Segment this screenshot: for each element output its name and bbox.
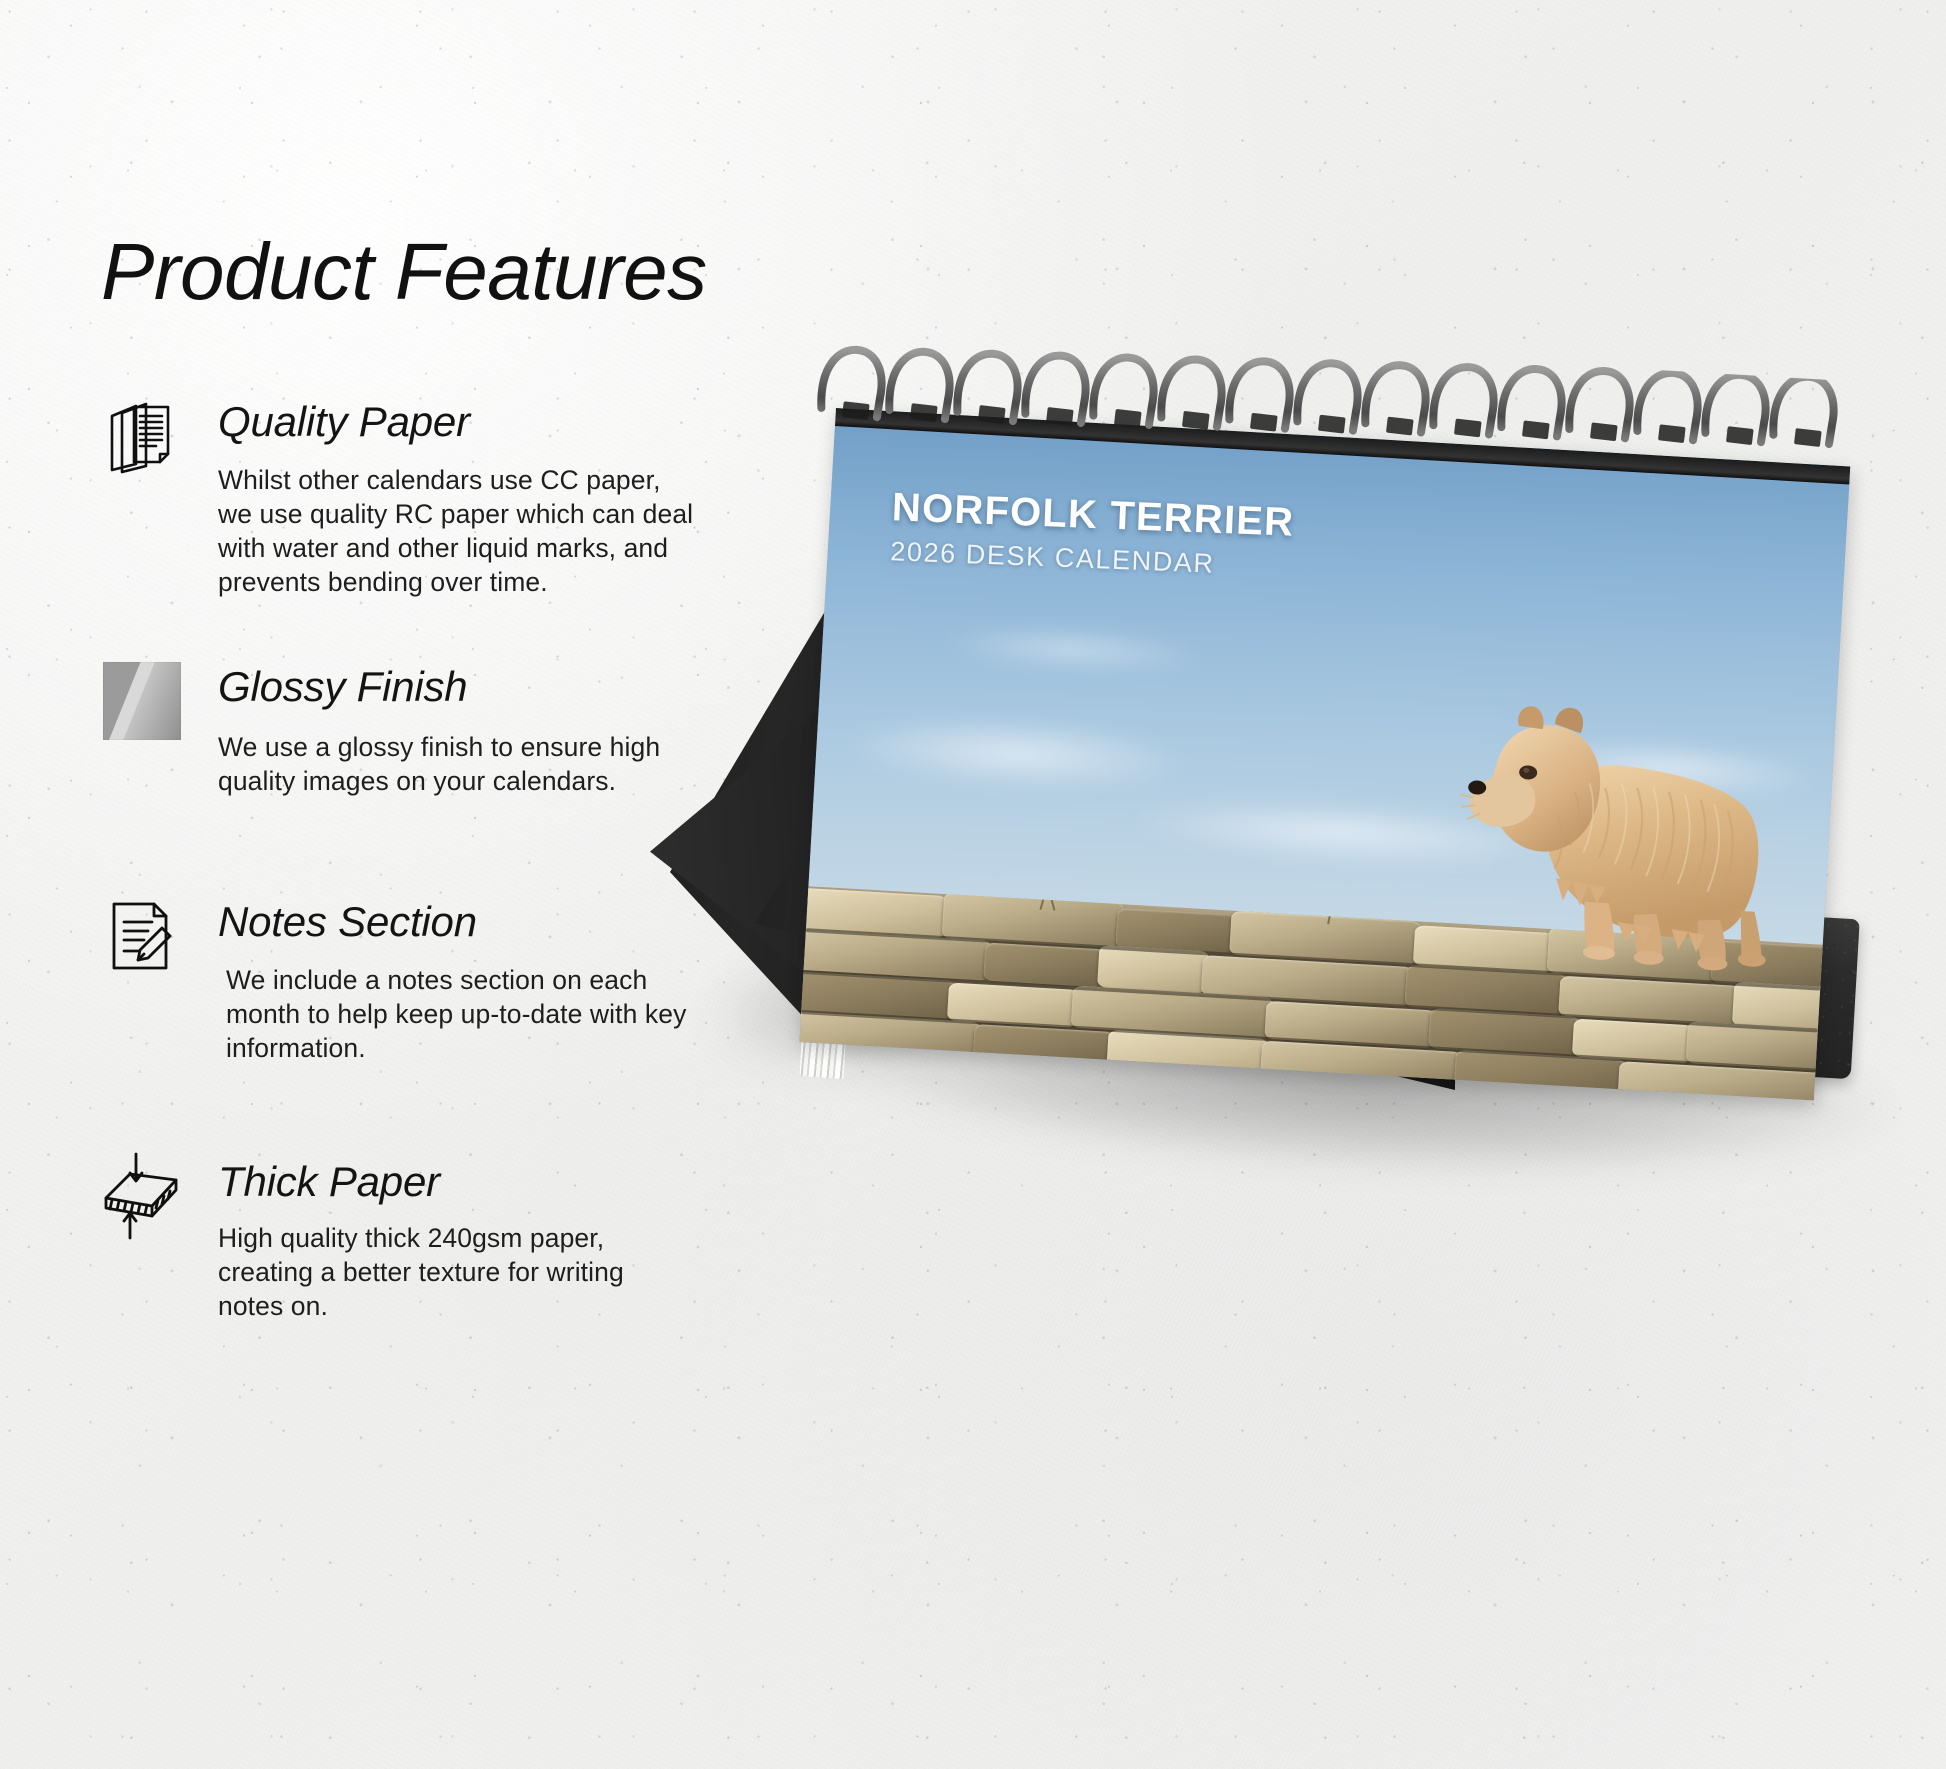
cloud xyxy=(941,620,1203,680)
glossy-gradient-square-icon xyxy=(96,655,188,747)
product-mockup-image: NORFOLK TERRIER 2026 DESK CALENDAR xyxy=(640,300,1946,1350)
cover-text-block: NORFOLK TERRIER 2026 DESK CALENDAR xyxy=(890,487,1295,580)
cover-photo-dog xyxy=(1445,676,1791,985)
stacked-lined-documents-icon xyxy=(96,390,188,482)
calendar-cover: NORFOLK TERRIER 2026 DESK CALENDAR xyxy=(799,408,1850,1100)
document-with-pencil-icon xyxy=(96,890,188,982)
paper-thickness-slab-icon xyxy=(96,1150,188,1242)
page-title: Product Features xyxy=(101,232,707,312)
cloud xyxy=(845,709,1188,798)
gloss-swatch xyxy=(103,662,181,740)
product-features-page: Product Features Quality Paper Whilst ot… xyxy=(0,0,1946,1769)
